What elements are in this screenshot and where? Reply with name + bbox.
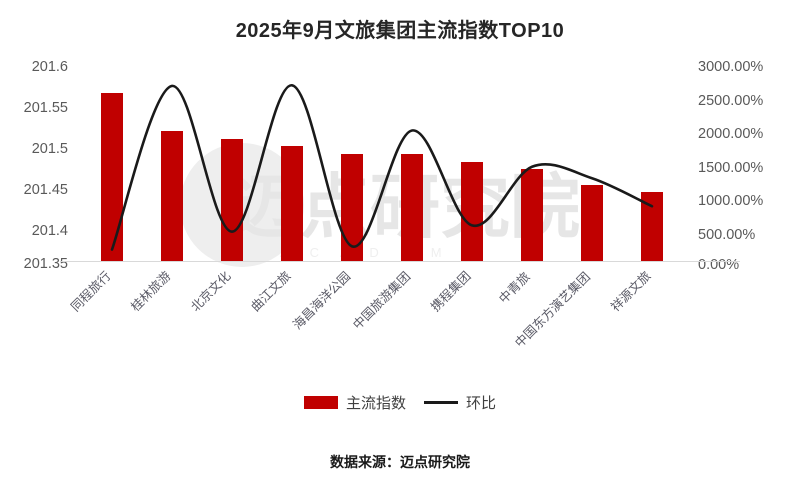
bar-series: [82, 70, 682, 261]
y-axis-right-tick: 1000.00%: [698, 194, 763, 209]
source-note: 数据来源：迈点研究院: [0, 452, 800, 472]
y-axis-left-tick: 201.45: [24, 183, 68, 198]
y-axis-left-tick: 201.5: [32, 142, 68, 157]
bar-9: [581, 185, 603, 261]
bar-5: [341, 154, 363, 261]
legend-item-line[interactable]: 环比: [424, 392, 496, 413]
x-axis-label-7: 携程集团: [429, 270, 473, 314]
x-axis-label-8: 中青旅: [497, 270, 532, 305]
x-axis-label-10: 祥源文旅: [609, 270, 653, 314]
x-axis-label-5: 海昌海洋公园: [291, 270, 353, 332]
bar-3: [221, 139, 243, 261]
bar-2: [161, 131, 183, 261]
y-axis-right-tick: 2000.00%: [698, 127, 763, 142]
legend-line-swatch-icon: [424, 401, 458, 404]
x-axis-label-3: 北京文化: [189, 270, 233, 314]
y-axis-right-tick: 2500.00%: [698, 94, 763, 109]
legend-line-label: 环比: [466, 392, 496, 413]
bar-6: [401, 154, 423, 261]
y-axis-right-tick: 3000.00%: [698, 60, 763, 75]
legend-item-bar[interactable]: 主流指数: [304, 392, 406, 413]
chart-title: 2025年9月文旅集团主流指数TOP10: [0, 14, 800, 43]
bar-7: [461, 162, 483, 261]
y-axis-left: 201.6 201.55 201.5 201.45 201.4 201.35: [0, 60, 74, 272]
y-axis-right-tick: 1500.00%: [698, 161, 763, 176]
y-axis-right: 3000.00% 2500.00% 2000.00% 1500.00% 1000…: [692, 60, 792, 272]
legend-bar-swatch-icon: [304, 396, 338, 409]
bar-1: [101, 93, 123, 261]
x-axis-labels: 同程旅行桂林旅游北京文化曲江文旅海昌海洋公园中国旅游集团携程集团中青旅中国东方演…: [0, 262, 800, 372]
y-axis-left-tick: 201.6: [32, 60, 68, 75]
bar-8: [521, 169, 543, 261]
bar-10: [641, 192, 663, 261]
x-axis-label-2: 桂林旅游: [129, 270, 173, 314]
y-axis-left-tick: 201.4: [32, 224, 68, 239]
x-axis-label-6: 中国旅游集团: [351, 270, 413, 332]
chart-container: 2025年9月文旅集团主流指数TOP10 迈点研究院 A C A D E M Y…: [0, 0, 800, 477]
chart-legend: 主流指数 环比: [0, 392, 800, 413]
y-axis-right-tick: 500.00%: [698, 228, 755, 243]
y-axis-left-tick: 201.55: [24, 101, 68, 116]
x-axis-label-1: 同程旅行: [69, 270, 113, 314]
legend-bar-label: 主流指数: [346, 392, 406, 413]
bar-4: [281, 146, 303, 261]
x-axis-label-4: 曲江文旅: [249, 270, 293, 314]
